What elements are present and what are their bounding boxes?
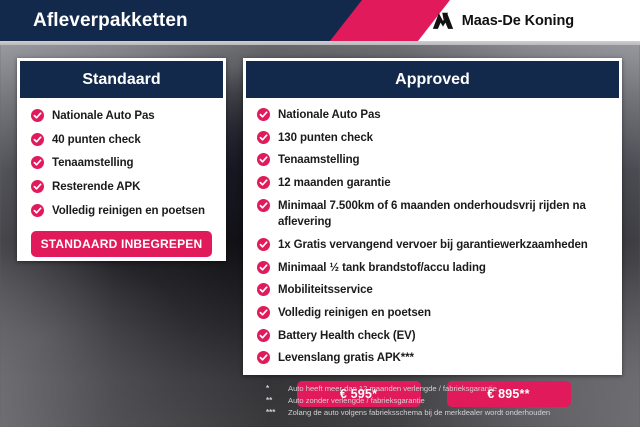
feature-label: Battery Health check (EV) bbox=[278, 328, 415, 345]
feature-label: Tenaamstelling bbox=[278, 152, 359, 169]
check-circle-icon bbox=[257, 131, 270, 144]
page-header: Afleverpakketten Maas-De Koning bbox=[0, 0, 640, 41]
feature-label: 130 punten check bbox=[278, 130, 373, 147]
list-item: Nationale Auto Pas bbox=[31, 108, 212, 125]
list-item: 12 maanden garantie bbox=[257, 175, 610, 192]
footnote-text: Auto heeft meer dan 12 maanden verlengde… bbox=[288, 383, 497, 394]
check-circle-icon bbox=[257, 108, 270, 121]
list-item: Minimaal ½ tank brandstof/accu lading bbox=[257, 260, 610, 277]
afleverpakketten-page: Afleverpakketten Maas-De Koning Standaar… bbox=[0, 0, 640, 427]
footnote-row: ** Auto zonder verlengde / fabrieksgaran… bbox=[266, 395, 626, 406]
feature-label: 40 punten check bbox=[52, 132, 141, 149]
check-circle-icon bbox=[31, 133, 44, 146]
feature-label: Levenslang gratis APK*** bbox=[278, 350, 414, 367]
card-title-approved: Approved bbox=[246, 61, 619, 98]
feature-label: Nationale Auto Pas bbox=[52, 108, 155, 125]
footnote-marker: *** bbox=[266, 407, 288, 418]
footnote-row: * Auto heeft meer dan 12 maanden verleng… bbox=[266, 383, 626, 394]
footnotes: * Auto heeft meer dan 12 maanden verleng… bbox=[266, 383, 626, 419]
page-title: Afleverpakketten bbox=[33, 0, 188, 41]
feature-label: Mobiliteitsservice bbox=[278, 282, 373, 299]
check-circle-icon bbox=[257, 176, 270, 189]
header-divider bbox=[0, 41, 640, 45]
feature-list-approved: Nationale Auto Pas 130 punten check Tena… bbox=[257, 107, 610, 367]
footnote-text: Zolang de auto volgens fabrieksschema bi… bbox=[288, 407, 550, 418]
footnote-row: *** Zolang de auto volgens fabrieksschem… bbox=[266, 407, 626, 418]
check-circle-icon bbox=[257, 306, 270, 319]
card-body-approved: Nationale Auto Pas 130 punten check Tena… bbox=[243, 98, 622, 415]
feature-label: Tenaamstelling bbox=[52, 155, 133, 172]
check-circle-icon bbox=[257, 351, 270, 364]
check-circle-icon bbox=[31, 180, 44, 193]
check-circle-icon bbox=[257, 153, 270, 166]
footnote-text: Auto zonder verlengde / fabrieksgarantie bbox=[288, 395, 425, 406]
list-item: Volledig reinigen en poetsen bbox=[31, 203, 212, 220]
check-circle-icon bbox=[257, 261, 270, 274]
card-title-standaard: Standaard bbox=[20, 61, 223, 98]
check-circle-icon bbox=[31, 204, 44, 217]
list-item: 130 punten check bbox=[257, 130, 610, 147]
standaard-inbegrepen-button[interactable]: STANDAARD INBEGREPEN bbox=[31, 231, 212, 257]
list-item: Minimaal 7.500km of 6 maanden onderhouds… bbox=[257, 198, 610, 231]
check-circle-icon bbox=[257, 238, 270, 251]
feature-list-standaard: Nationale Auto Pas 40 punten check Tenaa… bbox=[31, 108, 212, 219]
feature-label: Nationale Auto Pas bbox=[278, 107, 381, 124]
package-card-standaard: Standaard Nationale Auto Pas 40 punten c… bbox=[17, 58, 226, 261]
list-item: 1x Gratis vervangend vervoer bij garanti… bbox=[257, 237, 610, 254]
check-circle-icon bbox=[31, 156, 44, 169]
list-item: 40 punten check bbox=[31, 132, 212, 149]
feature-label: Resterende APK bbox=[52, 179, 140, 196]
list-item: Tenaamstelling bbox=[257, 152, 610, 169]
check-circle-icon bbox=[257, 283, 270, 296]
maas-de-koning-m-logo-icon bbox=[431, 12, 455, 30]
footnote-marker: ** bbox=[266, 395, 288, 406]
feature-label: 1x Gratis vervangend vervoer bij garanti… bbox=[278, 237, 588, 254]
card-body-standaard: Nationale Auto Pas 40 punten check Tenaa… bbox=[17, 98, 226, 267]
list-item: Nationale Auto Pas bbox=[257, 107, 610, 124]
feature-label: Minimaal 7.500km of 6 maanden onderhouds… bbox=[278, 198, 610, 231]
brand-name: Maas-De Koning bbox=[462, 13, 574, 29]
feature-label: Minimaal ½ tank brandstof/accu lading bbox=[278, 260, 486, 277]
feature-label: 12 maanden garantie bbox=[278, 175, 391, 192]
check-circle-icon bbox=[31, 109, 44, 122]
check-circle-icon bbox=[257, 199, 270, 212]
package-card-approved: Approved Nationale Auto Pas 130 punten c… bbox=[243, 58, 622, 375]
footnote-marker: * bbox=[266, 383, 288, 394]
brand-logo: Maas-De Koning bbox=[431, 0, 574, 41]
list-item: Battery Health check (EV) bbox=[257, 328, 610, 345]
list-item: Levenslang gratis APK*** bbox=[257, 350, 610, 367]
list-item: Resterende APK bbox=[31, 179, 212, 196]
check-circle-icon bbox=[257, 329, 270, 342]
feature-label: Volledig reinigen en poetsen bbox=[52, 203, 205, 220]
list-item: Tenaamstelling bbox=[31, 155, 212, 172]
list-item: Volledig reinigen en poetsen bbox=[257, 305, 610, 322]
list-item: Mobiliteitsservice bbox=[257, 282, 610, 299]
feature-label: Volledig reinigen en poetsen bbox=[278, 305, 431, 322]
